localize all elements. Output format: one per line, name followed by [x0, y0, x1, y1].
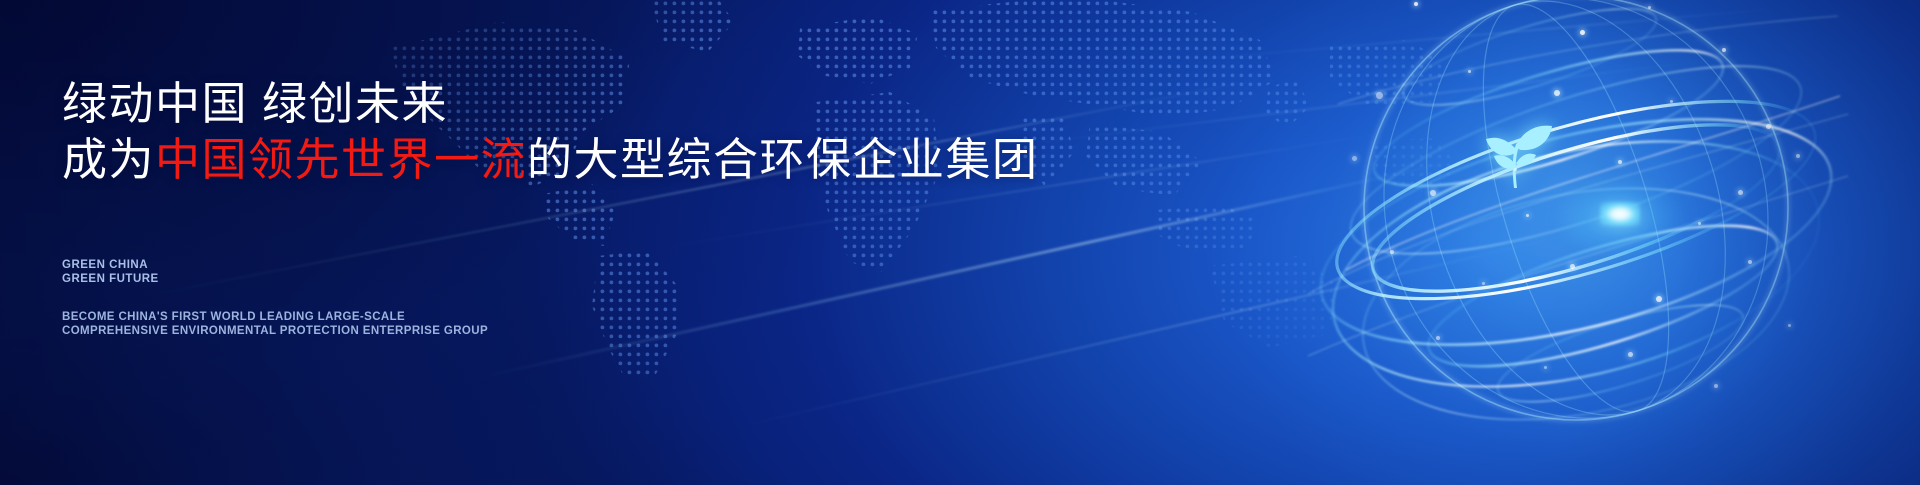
english-description-line-2: COMPREHENSIVE ENVIRONMENTAL PROTECTION E…: [62, 324, 488, 338]
hero-banner: 绿动中国 绿创未来 成为中国领先世界一流的大型综合环保企业集团 GREEN CH…: [0, 0, 1920, 485]
headline-line-2-suffix: 的大型综合环保企业集团: [527, 134, 1039, 185]
headline-line-2-highlight: 中国领先世界一流: [155, 134, 527, 185]
english-slogan-line-1: GREEN CHINA: [62, 258, 159, 272]
english-slogan-line-2: GREEN FUTURE: [62, 272, 159, 286]
background-vignette: [0, 0, 1920, 485]
headline-line-1-text: 绿动中国 绿创未来: [62, 78, 448, 129]
english-slogan-block: GREEN CHINA GREEN FUTURE: [62, 258, 159, 286]
headline-line-2: 成为中国领先世界一流的大型综合环保企业集团: [62, 132, 1039, 188]
headline-block: 绿动中国 绿创未来 成为中国领先世界一流的大型综合环保企业集团: [62, 76, 1039, 188]
headline-line-2-prefix: 成为: [62, 134, 155, 185]
english-description-block: BECOME CHINA'S FIRST WORLD LEADING LARGE…: [62, 310, 488, 338]
headline-line-1: 绿动中国 绿创未来: [62, 76, 1039, 132]
english-description-line-1: BECOME CHINA'S FIRST WORLD LEADING LARGE…: [62, 310, 488, 324]
